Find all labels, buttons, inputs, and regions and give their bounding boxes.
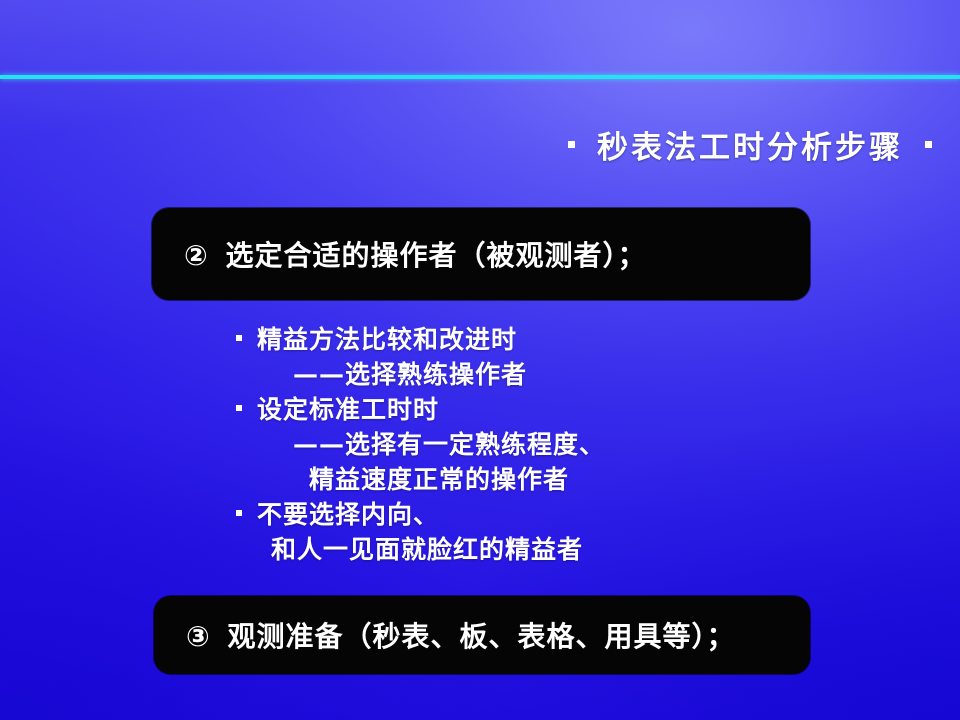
list-item: 设定标准工时时 [236,392,605,427]
title-dot-left-icon [568,141,575,148]
list-item-label: ——选择熟练操作者 [257,357,527,392]
list-item-label: ——选择有一定熟练程度、 [257,427,605,462]
slide-canvas: 秒表法工时分析步骤 ② 选定合适的操作者（被观测者）； 精益方法比较和改进时 —… [0,0,960,720]
step-3-text: 观测准备（秒表、板、表格、用具等）； [227,620,735,653]
list-item-label: 设定标准工时时 [257,392,439,427]
list-item: 精益速度正常的操作者 [236,462,605,497]
list-item: 不要选择内向、 [236,497,605,532]
step-2-number: ② [184,239,215,272]
title-dot-right-icon [925,141,932,148]
bullet-square-icon [236,335,242,341]
slide-title: 秒表法工时分析步骤 [568,122,932,167]
list-item: ——选择有一定熟练程度、 [236,427,605,462]
step-2-line: ② 选定合适的操作者（被观测者）； [152,234,646,274]
bullet-square-icon [236,510,242,516]
header-divider-line [0,75,960,79]
step-3-number: ③ [186,620,217,653]
step-2-text: 选定合适的操作者（被观测者）； [225,239,646,272]
list-item: 精益方法比较和改进时 [236,322,605,357]
step-box-2: ② 选定合适的操作者（被观测者）； [152,208,810,300]
list-item-label: 精益方法比较和改进时 [257,322,517,357]
list-item-label: 不要选择内向、 [257,497,439,532]
slide-title-text: 秒表法工时分析步骤 [597,122,903,167]
list-item: ——选择熟练操作者 [236,357,605,392]
list-item-label: 精益速度正常的操作者 [257,462,569,497]
bullet-square-icon [236,405,242,411]
list-item-label: 和人一见面就脸红的精益者 [257,532,583,567]
list-item: 和人一见面就脸红的精益者 [236,532,605,567]
bullet-list: 精益方法比较和改进时 ——选择熟练操作者 设定标准工时时 ——选择有一定熟练程度… [236,322,605,567]
step-box-3: ③ 观测准备（秒表、板、表格、用具等）； [154,596,810,674]
step-3-line: ③ 观测准备（秒表、板、表格、用具等）； [154,615,735,655]
